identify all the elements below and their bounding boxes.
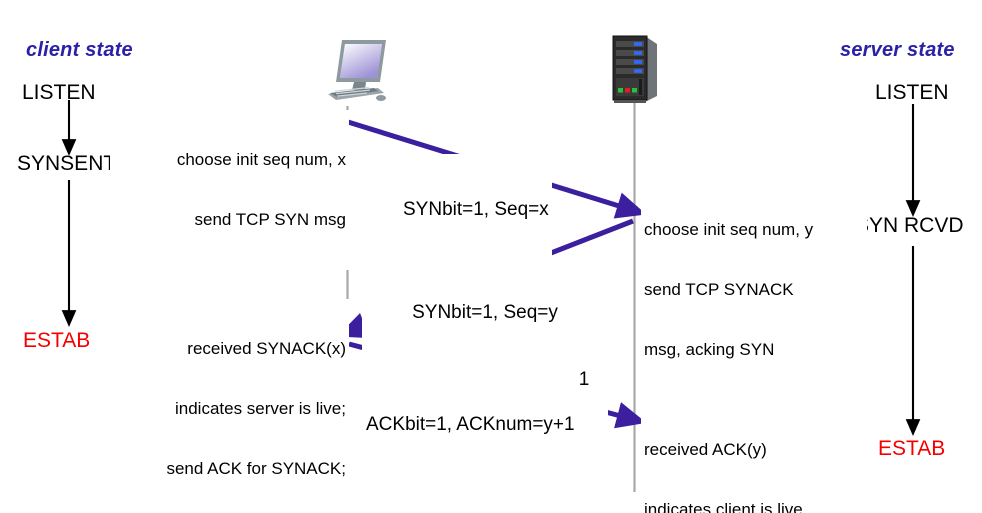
server-note-send-synack: choose init seq num, y send TCP SYNACK m… xyxy=(641,180,867,401)
client-state-header: client state xyxy=(26,39,133,63)
server-state-header: server state xyxy=(840,39,955,63)
client-state-listen: LISTEN xyxy=(22,81,96,106)
note-line: choose init seq num, x xyxy=(113,150,346,170)
message-line: ACKbit=1, ACKnum=y+1 xyxy=(366,414,575,436)
note-line: msg, acking SYN xyxy=(644,340,864,360)
server-state-syn-rcvd: SYN RCVD xyxy=(855,214,964,239)
server-state-listen: LISTEN xyxy=(875,81,949,106)
note-line: send TCP SYN msg xyxy=(113,210,346,230)
note-line: send TCP SYNACK xyxy=(644,280,864,300)
client-state-synsent: SYNSENT xyxy=(17,152,116,177)
client-note-received-synack: received SYNACK(x) indicates server is l… xyxy=(90,299,349,513)
message-line: SYNbit=1, Seq=y xyxy=(365,302,605,324)
server-tower-icon xyxy=(605,32,665,106)
note-line: indicates server is live; xyxy=(93,399,346,419)
server-note-received-ack: received ACK(y) indicates client is live xyxy=(641,400,867,513)
note-line: send ACK for SYNACK; xyxy=(93,459,346,479)
message-line: SYNbit=1, Seq=x xyxy=(403,199,549,221)
note-line: indicates client is live xyxy=(644,500,864,513)
note-line: choose init seq num, y xyxy=(644,220,864,240)
note-line: received ACK(y) xyxy=(644,440,864,460)
tcp-handshake-diagram: client state server state LISTEN SYNSENT… xyxy=(0,0,982,513)
client-state-estab: ESTAB xyxy=(23,329,90,354)
message-label-ack: ACKbit=1, ACKnum=y+1 xyxy=(363,369,578,481)
desktop-computer-icon xyxy=(318,38,390,106)
message-label-syn: SYNbit=1, Seq=x xyxy=(400,154,552,266)
server-state-estab: ESTAB xyxy=(878,437,945,462)
client-note-send-syn: choose init seq num, x send TCP SYN msg xyxy=(110,110,349,270)
note-line: received SYNACK(x) xyxy=(93,339,346,359)
